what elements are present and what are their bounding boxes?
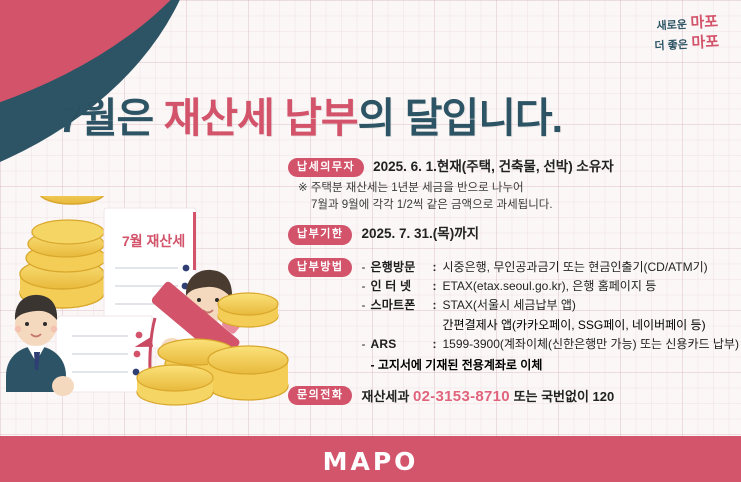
- badge-taxpayer: 납세의무자: [288, 158, 364, 177]
- contact-body: 재산세과 02-3153-8710 또는 국번없이 120: [361, 386, 736, 405]
- method-smartphone-value: STAX(서울시 세금납부 앱): [442, 296, 738, 315]
- poster-root: 새로운 마포 더 좋은 마포 7월은 재산세 납부의 달입니다. 납세의무자 2…: [0, 0, 741, 482]
- contact-prefix: 재산세과: [361, 389, 412, 404]
- row-contact: 문의전화 재산세과 02-3153-8710 또는 국번없이 120: [288, 386, 736, 405]
- slogan-line-2: 더 좋은 마포: [654, 33, 720, 57]
- badge-deadline: 납부기한: [288, 225, 352, 244]
- method-internet-label: 인 터 넷: [370, 277, 432, 296]
- illustration-tax-scene: 7월 재산세: [0, 196, 300, 436]
- taxpayer-note: ※ 주택분 재산세는 1년분 세금을 반으로 나누어 7월과 9월에 각각 1/…: [298, 180, 736, 213]
- page-title: 7월은 재산세 납부의 달입니다.: [58, 84, 562, 144]
- method-ars-colon: :: [432, 335, 442, 354]
- headline-part-1: 7월은: [58, 95, 164, 141]
- headline-part-3: 의 달입니다.: [358, 95, 562, 141]
- slogan-line2-big: 마포: [691, 34, 719, 52]
- taxpayer-body: 2025. 6. 1.현재(주택, 건축물, 선박) 소유자: [373, 158, 736, 176]
- method-smartphone: - 스마트폰 : STAX(서울시 세금납부 앱): [361, 296, 738, 315]
- deadline-body: 2025. 7. 31.(목)까지: [361, 225, 736, 243]
- slogan-line1-big: 마포: [690, 13, 718, 31]
- row-deadline: 납부기한 2025. 7. 31.(목)까지: [288, 225, 736, 244]
- doc-bullet-navy-1: [183, 265, 190, 272]
- method-bank: - 은행방문 : 시중은행, 무인공과금기 또는 현금인출기(CD/ATM기): [361, 258, 738, 277]
- method-ars: - ARS : 1599-3900(계좌이체(신한은행만 가능) 또는 신용카드…: [361, 335, 738, 354]
- method-bank-label: 은행방문: [370, 258, 432, 277]
- taxpayer-note-line2: 7월과 9월에 각각 1/2씩 같은 금액으로 과세됩니다.: [298, 197, 736, 214]
- headline-part-2: 재산세 납부: [164, 95, 358, 141]
- brand-slogan: 새로운 마포 더 좋은 마포: [653, 12, 720, 56]
- taxpayer-note-line1: ※ 주택분 재산세는 1년분 세금을 반으로 나누어: [298, 182, 524, 194]
- contact-suffix: 또는 국번없이 120: [510, 389, 614, 404]
- method-internet-value: ETAX(etax.seoul.go.kr), 은행 홈페이지 등: [442, 277, 738, 296]
- method-internet-dash: -: [361, 277, 370, 296]
- illustration-svg: 7월 재산세: [0, 196, 300, 436]
- deadline-value: 2025. 7. 31.(목)까지: [361, 225, 736, 243]
- info-block: 납세의무자 2025. 6. 1.현재(주택, 건축물, 선박) 소유자 ※ 주…: [288, 158, 736, 407]
- doc2-bullet-red-1: [136, 332, 143, 339]
- method-smartphone-continuation: 간편결제사 앱(카카오페이, SSG페이, 네이버페이 등): [361, 316, 738, 335]
- method-internet: - 인 터 넷 : ETAX(etax.seoul.go.kr), 은행 홈페이…: [361, 277, 738, 296]
- method-smartphone-dash: -: [361, 296, 370, 315]
- method-ars-label: ARS: [370, 335, 432, 354]
- contact-line: 재산세과 02-3153-8710 또는 국번없이 120: [361, 386, 736, 405]
- method-smartphone-colon: :: [432, 296, 442, 315]
- method-smartphone-label: 스마트폰: [370, 296, 432, 315]
- row-payment-methods: 납부방법 - 은행방문 : 시중은행, 무인공과금기 또는 현금인출기(CD/A…: [288, 258, 736, 376]
- method-internet-colon: :: [432, 277, 442, 296]
- badge-payment-method: 납부방법: [288, 258, 352, 277]
- taxpayer-value: 2025. 6. 1.현재(주택, 건축물, 선박) 소유자: [373, 158, 736, 176]
- badge-contact: 문의전화: [288, 386, 352, 405]
- coin-floating: [39, 196, 105, 204]
- contact-phone-number[interactable]: 02-3153-8710: [413, 388, 510, 405]
- coin-stack-left: [20, 220, 106, 308]
- methods-body: - 은행방문 : 시중은행, 무인공과금기 또는 현금인출기(CD/ATM기) …: [361, 258, 738, 376]
- method-bank-colon: :: [432, 258, 442, 277]
- method-bank-dash: -: [361, 258, 370, 277]
- method-ars-dash: -: [361, 335, 370, 354]
- method-ars-value: 1599-3900(계좌이체(신한은행만 가능) 또는 신용카드 납부): [442, 335, 738, 354]
- slogan-line1-small: 새로운: [657, 19, 688, 33]
- method-dedicated-account: - 고지서에 기재된 전용계좌로 이체: [361, 355, 738, 375]
- document-label-text: 7월 재산세: [122, 233, 185, 249]
- doc2-bullet-red-2: [134, 351, 141, 358]
- slogan-line2-small: 더 좋은: [655, 39, 689, 53]
- method-bank-value: 시중은행, 무인공과금기 또는 현금인출기(CD/ATM기): [442, 258, 738, 277]
- row-taxpayer: 납세의무자 2025. 6. 1.현재(주택, 건축물, 선박) 소유자: [288, 158, 736, 177]
- footer-mapo-logo: MAPO: [0, 447, 741, 476]
